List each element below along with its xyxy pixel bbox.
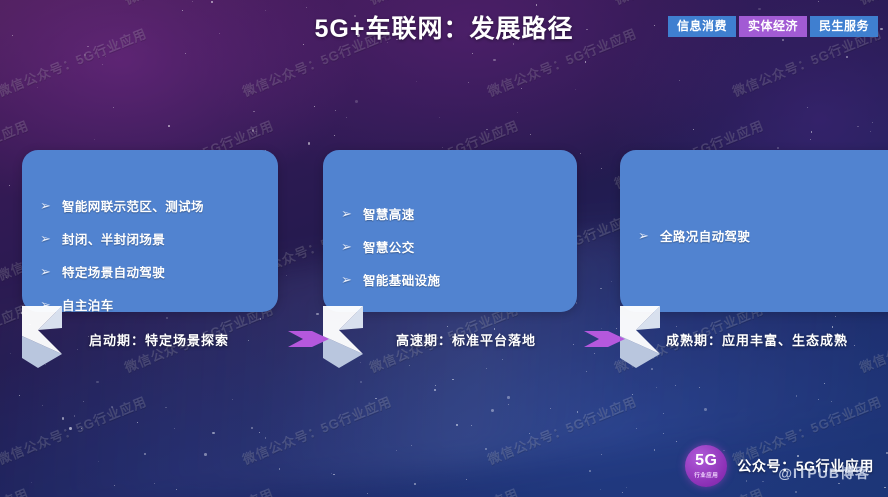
background-watermark: 微信公众号：5G行业应用 (239, 391, 394, 468)
list-item-label: 全路况自动驾驶 (660, 226, 750, 245)
phase-1-bullet-list: ➢ 智能网联示范区、测试场 ➢ 封闭、半封闭场景 ➢ 特定场景自动驾驶 ➢ 自主… (40, 196, 266, 328)
list-item-label: 自主泊车 (62, 295, 114, 314)
logo-5g-main-text: 5G (695, 453, 717, 469)
phase-card-maturity[interactable]: ➢ 全路况自动驾驶 (620, 150, 888, 312)
arrow-bullet-icon: ➢ (638, 229, 660, 242)
badge-group: 信息消费 实体经济 民生服务 (668, 16, 878, 37)
footer-brand: 5G 行业应用 公众号：5G行业应用 (685, 445, 874, 487)
arrow-bullet-icon: ➢ (341, 207, 363, 220)
badge-real-economy[interactable]: 实体经济 (739, 16, 807, 37)
arrow-bullet-icon: ➢ (40, 232, 62, 245)
phase-3-bullet-list: ➢ 全路况自动驾驶 (638, 226, 888, 259)
chevron-right-arrow-icon-2 (584, 328, 626, 350)
phase-3-caption: 成熟期：应用丰富、生态成熟 (666, 330, 848, 349)
arrow-bullet-icon: ➢ (341, 240, 363, 253)
background-watermark: 微信公众号：5G行业应用 (121, 0, 276, 8)
phase-1-caption: 启动期：特定场景探索 (89, 330, 229, 349)
list-item: ➢ 全路况自动驾驶 (638, 226, 888, 245)
list-item: ➢ 特定场景自动驾驶 (40, 262, 266, 281)
list-item-label: 封闭、半封闭场景 (62, 229, 165, 248)
background-watermark: 微信公众号：5G行业应用 (0, 483, 31, 497)
background-watermark: 微信公众号：5G行业应用 (484, 391, 639, 468)
list-item: ➢ 智能网联示范区、测试场 (40, 196, 266, 215)
logo-5g-sub-text: 行业应用 (694, 471, 718, 479)
background-watermark: 微信公众号：5G行业应用 (366, 0, 521, 8)
arrow-bullet-icon: ➢ (40, 199, 62, 212)
phase-card-acceleration[interactable]: ➢ 智慧高速 ➢ 智慧公交 ➢ 智能基础设施 (323, 150, 577, 312)
arrow-bullet-icon: ➢ (40, 298, 62, 311)
slide-canvas: 微信公众号：5G行业应用微信公众号：5G行业应用微信公众号：5G行业应用微信公众… (0, 0, 888, 497)
list-item: ➢ 智能基础设施 (341, 270, 565, 289)
background-watermark: 微信公众号：5G行业应用 (611, 0, 766, 8)
background-watermark: 微信公众号：5G行业应用 (0, 391, 149, 468)
phase-card-startup[interactable]: ➢ 智能网联示范区、测试场 ➢ 封闭、半封闭场景 ➢ 特定场景自动驾驶 ➢ 自主… (22, 150, 278, 312)
badge-information-consumption[interactable]: 信息消费 (668, 16, 736, 37)
logo-5g-icon: 5G 行业应用 (685, 445, 727, 487)
arrow-bullet-icon: ➢ (40, 265, 62, 278)
list-item-label: 智慧公交 (363, 237, 415, 256)
phase-2-bullet-list: ➢ 智慧高速 ➢ 智慧公交 ➢ 智能基础设施 (341, 204, 565, 303)
list-item: ➢ 智慧高速 (341, 204, 565, 223)
list-item: ➢ 智慧公交 (341, 237, 565, 256)
background-watermark: 微信公众号：5G行业应用 (121, 483, 276, 497)
footer-account-text: 公众号：5G行业应用 (737, 456, 874, 476)
background-watermark: 微信公众号：5G行业应用 (856, 0, 888, 8)
background-watermark: 微信公众号：5G行业应用 (366, 483, 521, 497)
list-item-label: 特定场景自动驾驶 (62, 262, 165, 281)
list-item: ➢ 封闭、半封闭场景 (40, 229, 266, 248)
list-item-label: 智能网联示范区、测试场 (62, 196, 204, 215)
list-item-label: 智慧高速 (363, 204, 415, 223)
list-item: ➢ 自主泊车 (40, 295, 266, 314)
list-item-label: 智能基础设施 (363, 270, 440, 289)
background-watermark: 微信公众号：5G行业应用 (0, 0, 31, 8)
chevron-right-arrow-icon-1 (288, 328, 330, 350)
phase-2-caption: 高速期：标准平台落地 (396, 330, 536, 349)
badge-public-service[interactable]: 民生服务 (810, 16, 878, 37)
arrow-bullet-icon: ➢ (341, 273, 363, 286)
background-watermark: 微信公众号：5G行业应用 (0, 299, 31, 376)
